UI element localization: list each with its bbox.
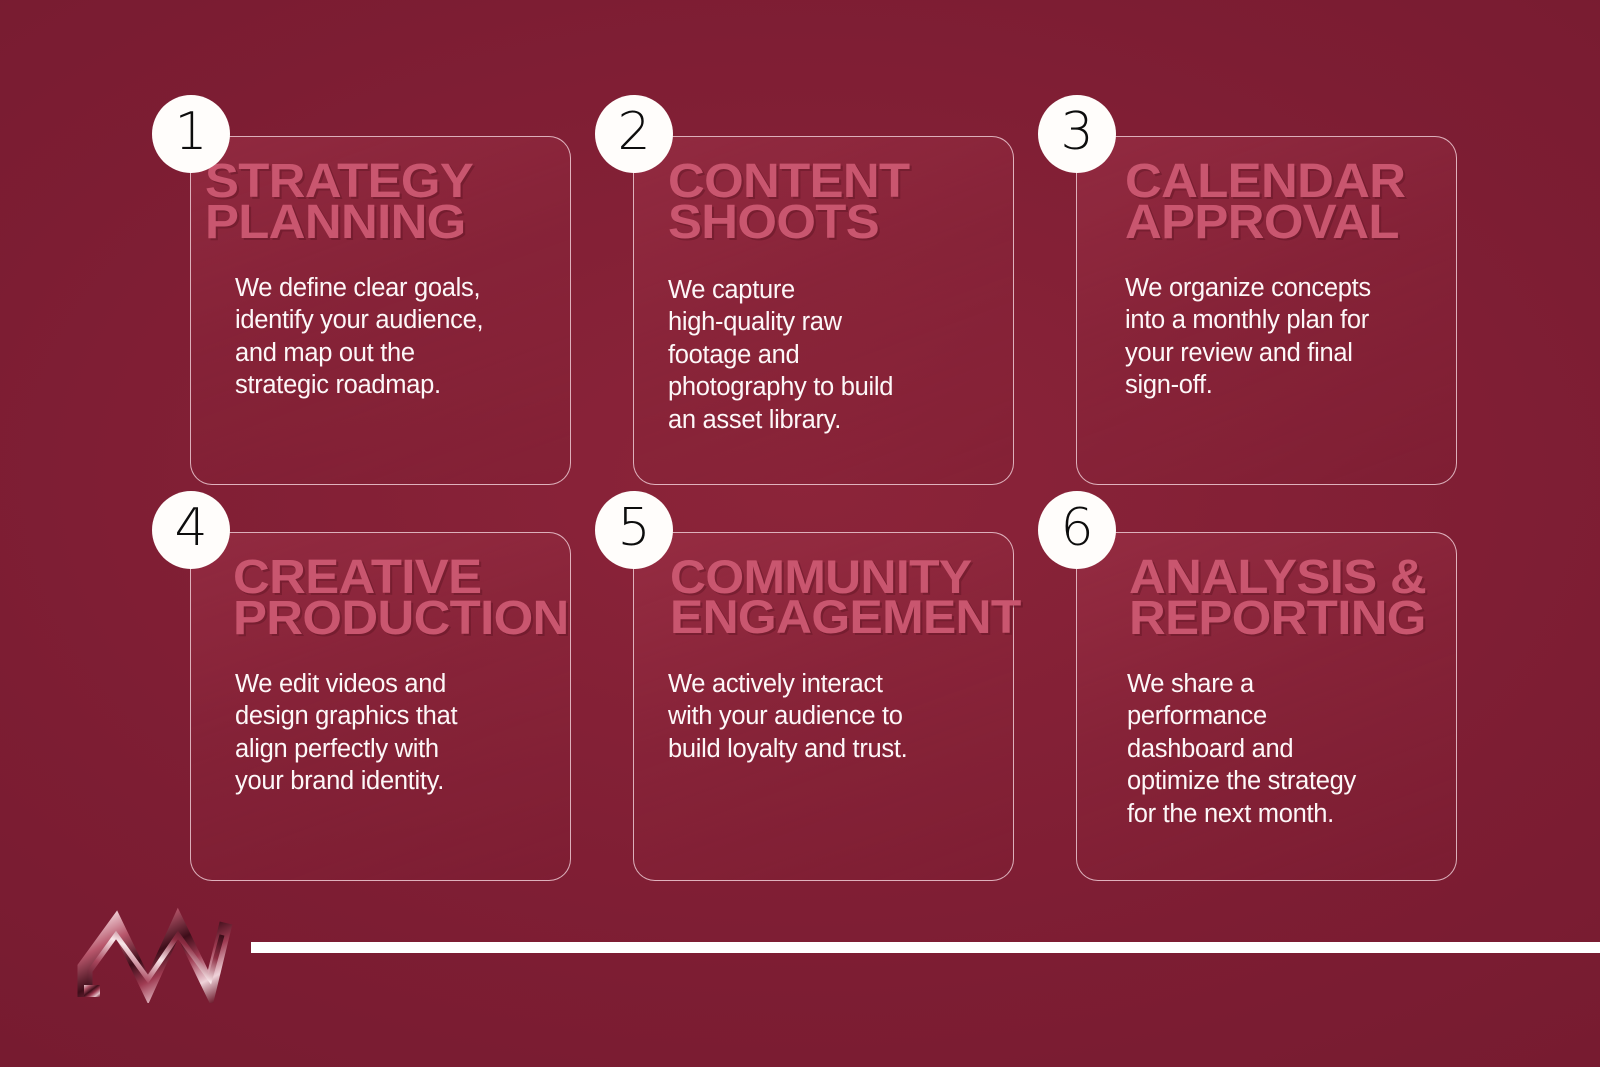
step-card-3-content: CALENDAR APPROVAL We organize concepts i…: [1077, 137, 1456, 484]
step-card-1[interactable]: 1 STRATEGY PLANNING We define clear goal…: [190, 136, 571, 485]
step-card-4-content: CREATIVE PRODUCTION We edit videos and d…: [191, 533, 570, 880]
step-number-3: 3: [1060, 106, 1093, 158]
step-body-4: We edit videos and design graphics that …: [203, 640, 570, 799]
step-card-6[interactable]: 6 ANALYSIS & REPORTING We share a perfor…: [1076, 532, 1457, 881]
step-number-5: 5: [617, 502, 650, 554]
step-title-1: STRATEGY PLANNING: [205, 161, 592, 244]
step-number-1: 1: [174, 106, 207, 158]
step-body-6: We share a performance dashboard and opt…: [1089, 640, 1456, 831]
step-card-3[interactable]: 3 CALENDAR APPROVAL We organize concepts…: [1076, 136, 1457, 485]
step-number-6: 6: [1060, 502, 1093, 554]
step-number-4: 4: [174, 502, 207, 554]
step-number-badge-1: 1: [152, 95, 230, 173]
step-card-4[interactable]: 4 CREATIVE PRODUCTION We edit videos and…: [190, 532, 571, 881]
step-card-5[interactable]: 5 COMMUNITY ENGAGEMENT We actively inter…: [633, 532, 1014, 881]
step-title-6: ANALYSIS & REPORTING: [1129, 557, 1476, 640]
step-title-5: COMMUNITY ENGAGEMENT: [670, 557, 1034, 638]
w-zigzag-logo-icon: [70, 893, 250, 1003]
step-body-1: We define clear goals, identify your aud…: [203, 244, 570, 403]
step-card-5-content: COMMUNITY ENGAGEMENT We actively interac…: [634, 533, 1013, 880]
step-title-2: CONTENT SHOOTS: [668, 161, 1034, 244]
step-number-2: 2: [617, 106, 650, 158]
step-card-2-content: CONTENT SHOOTS We capture high-quality r…: [634, 137, 1013, 484]
step-body-3: We organize concepts into a monthly plan…: [1089, 244, 1456, 403]
step-number-badge-2: 2: [595, 95, 673, 173]
step-number-badge-6: 6: [1038, 491, 1116, 569]
step-title-4: CREATIVE PRODUCTION: [233, 557, 590, 640]
infographic-canvas: 1 STRATEGY PLANNING We define clear goal…: [0, 0, 1600, 1067]
step-body-5: We actively interact with your audience …: [646, 638, 1013, 766]
step-title-3: CALENDAR APPROVAL: [1125, 161, 1476, 244]
w-zigzag-logo: [70, 893, 250, 1003]
step-body-2: We capture high-quality raw footage and …: [646, 244, 1013, 437]
process-steps-grid: 1 STRATEGY PLANNING We define clear goal…: [190, 136, 1477, 865]
step-card-1-content: STRATEGY PLANNING We define clear goals,…: [191, 137, 570, 484]
step-card-2[interactable]: 2 CONTENT SHOOTS We capture high-quality…: [633, 136, 1014, 485]
footer-divider-rule: [251, 942, 1600, 953]
step-number-badge-4: 4: [152, 491, 230, 569]
step-number-badge-5: 5: [595, 491, 673, 569]
step-number-badge-3: 3: [1038, 95, 1116, 173]
step-card-6-content: ANALYSIS & REPORTING We share a performa…: [1077, 533, 1456, 880]
